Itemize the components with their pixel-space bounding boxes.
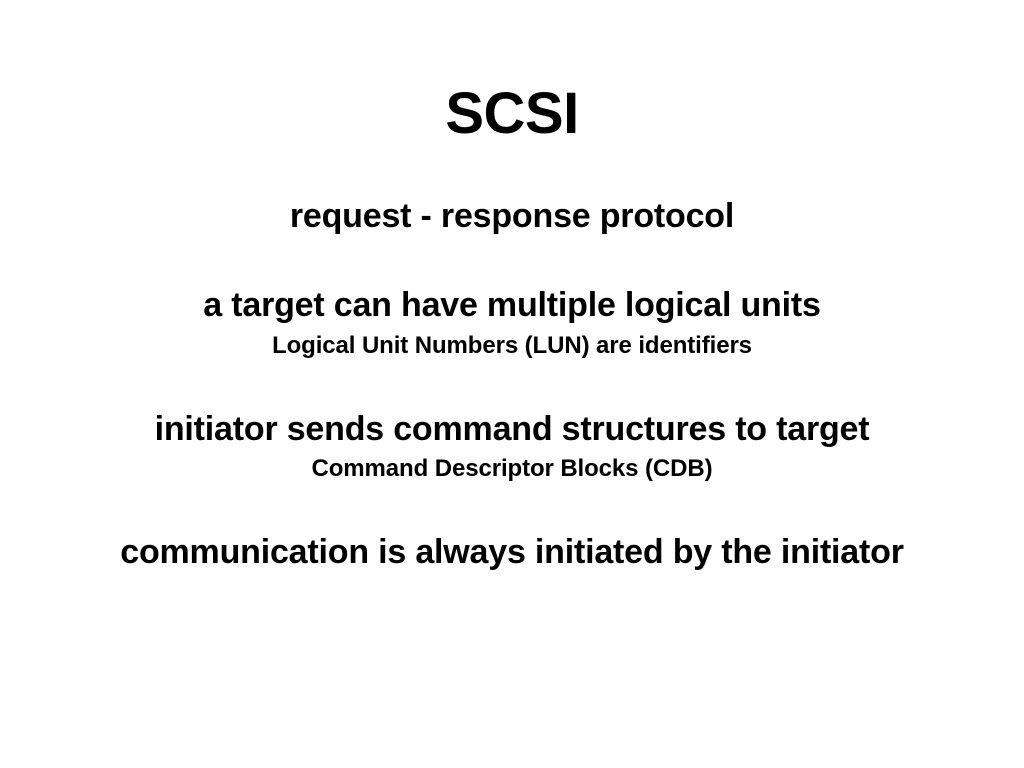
content-group: communication is always initiated by the… (0, 532, 1024, 573)
slide-body: request - response protocol a target can… (0, 196, 1024, 574)
presentation-slide: SCSI request - response protocol a targe… (0, 0, 1024, 768)
content-group: request - response protocol (0, 196, 1024, 237)
slide-title: SCSI (0, 84, 1024, 145)
content-group: initiator sends command structures to ta… (0, 409, 1024, 484)
content-group: a target can have multiple logical units… (0, 285, 1024, 360)
content-line-main: a target can have multiple logical units (0, 285, 1024, 326)
content-line-sub: Command Descriptor Blocks (CDB) (0, 454, 1024, 484)
content-line-main: initiator sends command structures to ta… (0, 409, 1024, 450)
content-line-sub: Logical Unit Numbers (LUN) are identifie… (0, 331, 1024, 361)
content-line-main: request - response protocol (0, 196, 1024, 237)
content-line-main: communication is always initiated by the… (0, 532, 1024, 573)
